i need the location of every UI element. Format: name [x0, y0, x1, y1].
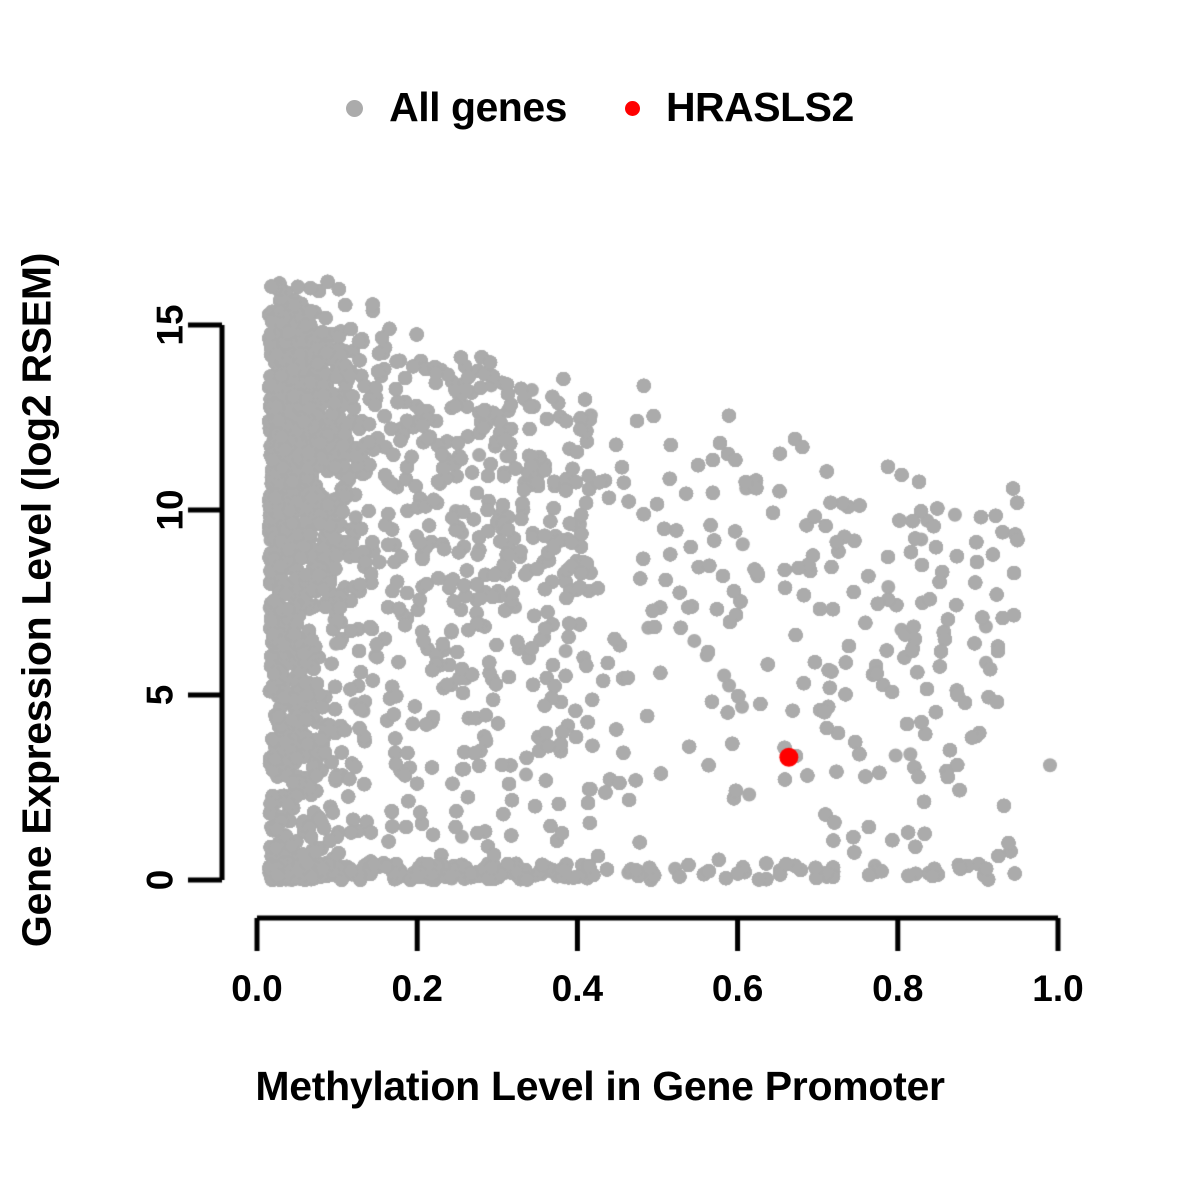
gray-dot-icon	[346, 100, 363, 117]
x-tick-label: 1.0	[1032, 968, 1083, 1010]
legend-label-hrasls2: HRASLS2	[666, 84, 854, 131]
red-dot-icon	[625, 101, 640, 116]
chart-legend: All genes HRASLS2	[0, 76, 1200, 138]
scatter-plot-figure: All genes HRASLS2 Methylation Level in G…	[0, 0, 1200, 1200]
legend-item-hrasls2: HRASLS2	[625, 84, 854, 131]
y-tick-label: 15	[150, 304, 192, 345]
x-tick-label: 0.8	[872, 968, 923, 1010]
legend-label-all-genes: All genes	[389, 84, 567, 131]
y-tick-label: 0	[139, 870, 181, 891]
x-axis-title: Methylation Level in Gene Promoter	[0, 1063, 1200, 1110]
x-tick-label: 0.2	[391, 968, 442, 1010]
x-tick-label: 0.6	[712, 968, 763, 1010]
x-tick-label: 0.0	[231, 968, 282, 1010]
y-tick-label: 5	[139, 685, 181, 706]
y-tick-label: 10	[150, 489, 192, 530]
scatter-plot-canvas	[0, 0, 1200, 1200]
x-tick-label: 0.4	[552, 968, 603, 1010]
legend-item-all-genes: All genes	[346, 84, 567, 131]
